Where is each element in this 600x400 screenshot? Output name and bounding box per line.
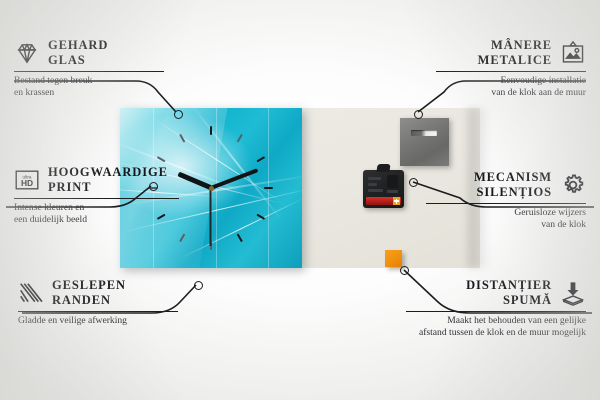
feature-header: DISTANȚIER SPUMĂ — [406, 278, 586, 307]
mechanism-shaft — [376, 164, 390, 172]
feature-header: ultra HD HOOGWAARDIGE PRINT — [14, 165, 179, 194]
leader-dot-geslepen-randen — [194, 281, 203, 290]
ultra-hd-icon: ultra HD — [14, 167, 40, 193]
feature-distantier-spuma: DISTANȚIER SPUMĂ Maakt het behouden van … — [406, 278, 586, 339]
feature-geslepen-randen: GESLEPEN RANDEN Gladde en veilige afwerk… — [18, 278, 178, 327]
product-infographic: GEHARD GLAS Bestand tegen breuk en krass… — [0, 0, 600, 400]
feature-description: Eenvoudige installatie van de klok aan d… — [436, 75, 586, 99]
clock-tick — [211, 187, 273, 189]
feature-description: Geruisloze wijzers van de klok — [426, 207, 586, 231]
leader-dot-distantier-spuma — [400, 266, 409, 275]
feature-title: DISTANȚIER SPUMĂ — [466, 278, 552, 307]
feature-header: GEHARD GLAS — [14, 38, 164, 67]
feature-header: MÂNERE METALICE — [436, 38, 586, 67]
svg-text:HD: HD — [21, 178, 33, 188]
mechanism-detail — [368, 177, 381, 180]
feature-title: GEHARD GLAS — [48, 38, 108, 67]
feature-header: MECANISM SILENȚIOS — [426, 170, 586, 199]
feature-title: HOOGWAARDIGE PRINT — [48, 165, 168, 194]
clock-mechanism — [363, 170, 404, 208]
battery — [366, 197, 401, 205]
beveled-edges-icon — [18, 280, 44, 306]
feature-rule — [18, 311, 178, 312]
feature-title: MÂNERE METALICE — [478, 38, 552, 67]
mechanism-detail — [387, 190, 398, 193]
feature-rule — [14, 71, 164, 72]
gear-icon — [560, 172, 586, 198]
feature-title: GESLEPEN RANDEN — [52, 278, 126, 307]
press-down-pad-icon — [560, 280, 586, 306]
battery-plus-terminal — [393, 197, 400, 205]
leader-dot-gehard-glas — [174, 110, 183, 119]
leader-dot-manere-metalice — [414, 110, 423, 119]
foam-spacer — [385, 250, 402, 267]
mechanism-detail — [368, 183, 377, 186]
hanger-keyhole-slot — [411, 130, 437, 136]
feature-description: Intense kleuren en een duidelijk beeld — [14, 202, 179, 226]
feature-description: Maakt het behouden van een gelijke afsta… — [406, 315, 586, 339]
feature-rule — [426, 203, 586, 204]
feature-title: MECANISM SILENȚIOS — [474, 170, 552, 199]
mechanism-detail — [368, 189, 383, 192]
feature-header: GESLEPEN RANDEN — [18, 278, 178, 307]
diamond-icon — [14, 40, 40, 66]
metal-hanger-plate — [400, 118, 449, 166]
feature-gehard-glas: GEHARD GLAS Bestand tegen breuk en krass… — [14, 38, 164, 99]
leader-dot-mecanism-silentios — [409, 178, 418, 187]
feature-rule — [436, 71, 586, 72]
clock-tick — [210, 126, 212, 188]
clock-center-cap — [209, 186, 214, 191]
feature-manere-metalice: MÂNERE METALICE Eenvoudige installatie v… — [436, 38, 586, 99]
feature-hoogwaardige-print: ultra HD HOOGWAARDIGE PRINT Intense kleu… — [14, 165, 179, 226]
feature-mecanism-silentios: MECANISM SILENȚIOS Geruisloze wijzers va… — [426, 170, 586, 231]
feature-description: Gladde en veilige afwerking — [18, 315, 178, 327]
feature-rule — [406, 311, 586, 312]
feature-rule — [14, 198, 179, 199]
mechanism-detail — [387, 175, 398, 188]
feature-description: Bestand tegen breuk en krassen — [14, 75, 164, 99]
picture-frame-icon — [560, 40, 586, 66]
